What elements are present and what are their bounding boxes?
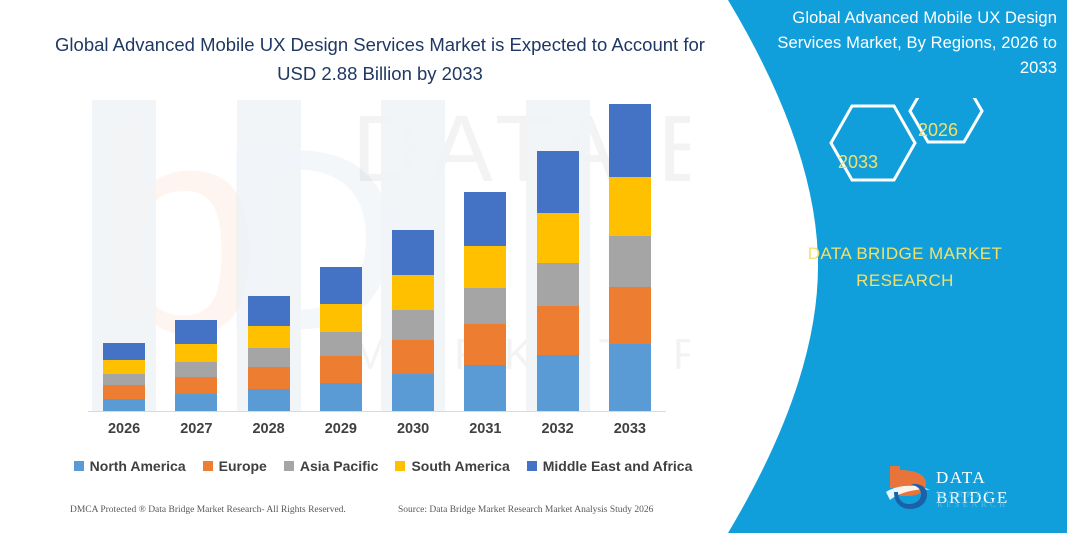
bar-segment [175, 362, 217, 377]
bar-segment [464, 288, 506, 324]
legend-swatch-icon [395, 461, 405, 471]
stacked-bar[interactable] [609, 104, 651, 411]
x-axis-label: 2031 [449, 421, 521, 437]
hexagon-2033-label: 2033 [838, 152, 878, 173]
data-bridge-logo: DATA BRIDGE MARKET RESEARCH [884, 462, 1059, 514]
bar-segment [609, 287, 651, 345]
bar-segment [175, 377, 217, 394]
legend-swatch-icon [74, 461, 84, 471]
stacked-bar[interactable] [537, 151, 579, 411]
legend-swatch-icon [284, 461, 294, 471]
legend-label: South America [411, 458, 509, 474]
legend-label: Europe [219, 458, 267, 474]
bar-segment [537, 213, 579, 263]
footer: DMCA Protected ® Data Bridge Market Rese… [0, 505, 713, 525]
legend-item[interactable]: Middle East and Africa [527, 458, 693, 474]
bar-segment [464, 246, 506, 288]
chart-legend: North AmericaEuropeAsia PacificSouth Ame… [88, 456, 678, 476]
stacked-bar[interactable] [392, 230, 434, 411]
x-axis-labels: 20262027202820292030203120322033 [88, 421, 666, 443]
footer-source: Source: Data Bridge Market Research Mark… [398, 505, 653, 515]
legend-swatch-icon [203, 461, 213, 471]
bar-segment [609, 344, 651, 411]
bar-segment [248, 389, 290, 411]
x-axis-line [88, 411, 666, 412]
bar-segment [537, 263, 579, 307]
bar-segment [392, 374, 434, 411]
right-panel-title: Global Advanced Mobile UX Design Service… [745, 6, 1057, 81]
brand-line-2: RESEARCH [755, 267, 1055, 294]
x-axis-label: 2026 [88, 421, 160, 437]
bar-segment [320, 332, 362, 356]
bar-segment [248, 296, 290, 326]
bar-segment [103, 360, 145, 373]
legend-swatch-icon [527, 461, 537, 471]
bar-segment [537, 306, 579, 355]
bar-segment [464, 324, 506, 365]
hexagon-group: 2033 2026 [818, 98, 1018, 218]
bar-segment [320, 383, 362, 411]
bar-segment [609, 236, 651, 287]
bar-segment [175, 394, 217, 411]
bar-segment [103, 385, 145, 398]
brand-name: DATA BRIDGE MARKET RESEARCH [755, 240, 1055, 294]
stacked-bar[interactable] [320, 267, 362, 411]
bar-segment [103, 399, 145, 411]
stacked-bar-group [88, 100, 666, 411]
stacked-bar[interactable] [175, 320, 217, 411]
stacked-bar[interactable] [464, 192, 506, 411]
logo-tagline: MARKET RESEARCH [937, 489, 1059, 509]
legend-label: North America [90, 458, 186, 474]
bar-segment [320, 304, 362, 332]
bar-segment [320, 356, 362, 383]
bar-segment [464, 365, 506, 411]
legend-label: Middle East and Africa [543, 458, 693, 474]
bar-segment [609, 104, 651, 177]
bar-segment [537, 355, 579, 411]
bar-segment [320, 267, 362, 304]
bar-segment [103, 343, 145, 361]
x-axis-label: 2027 [160, 421, 232, 437]
bar-segment [392, 230, 434, 275]
bar-segment [103, 374, 145, 386]
bar-segment [248, 367, 290, 388]
bar-segment [175, 320, 217, 344]
x-axis-label: 2028 [233, 421, 305, 437]
stacked-bar[interactable] [103, 343, 145, 411]
bar-segment [537, 151, 579, 213]
legend-item[interactable]: Asia Pacific [284, 458, 379, 474]
bar-segment [248, 326, 290, 348]
brand-line-1: DATA BRIDGE MARKET [755, 240, 1055, 267]
infographic-root: b D DATA BRIDGE MARKET RESEARCH Global A… [0, 0, 1067, 533]
hexagon-2026-label: 2026 [918, 120, 958, 141]
legend-item[interactable]: North America [74, 458, 186, 474]
legend-item[interactable]: South America [395, 458, 509, 474]
bar-segment [609, 177, 651, 236]
footer-copyright: DMCA Protected ® Data Bridge Market Rese… [70, 505, 346, 515]
logo-mark-icon [884, 462, 932, 512]
bar-segment [392, 310, 434, 340]
bar-segment [175, 344, 217, 362]
bar-segment [392, 340, 434, 374]
bar-segment [248, 348, 290, 368]
x-axis-label: 2032 [522, 421, 594, 437]
legend-label: Asia Pacific [300, 458, 379, 474]
bar-segment [464, 192, 506, 245]
bar-segment [392, 275, 434, 310]
x-axis-label: 2033 [594, 421, 666, 437]
x-axis-label: 2029 [305, 421, 377, 437]
legend-item[interactable]: Europe [203, 458, 267, 474]
chart-title: Global Advanced Mobile UX Design Service… [55, 30, 705, 88]
stacked-bar[interactable] [248, 296, 290, 411]
x-axis-label: 2030 [377, 421, 449, 437]
